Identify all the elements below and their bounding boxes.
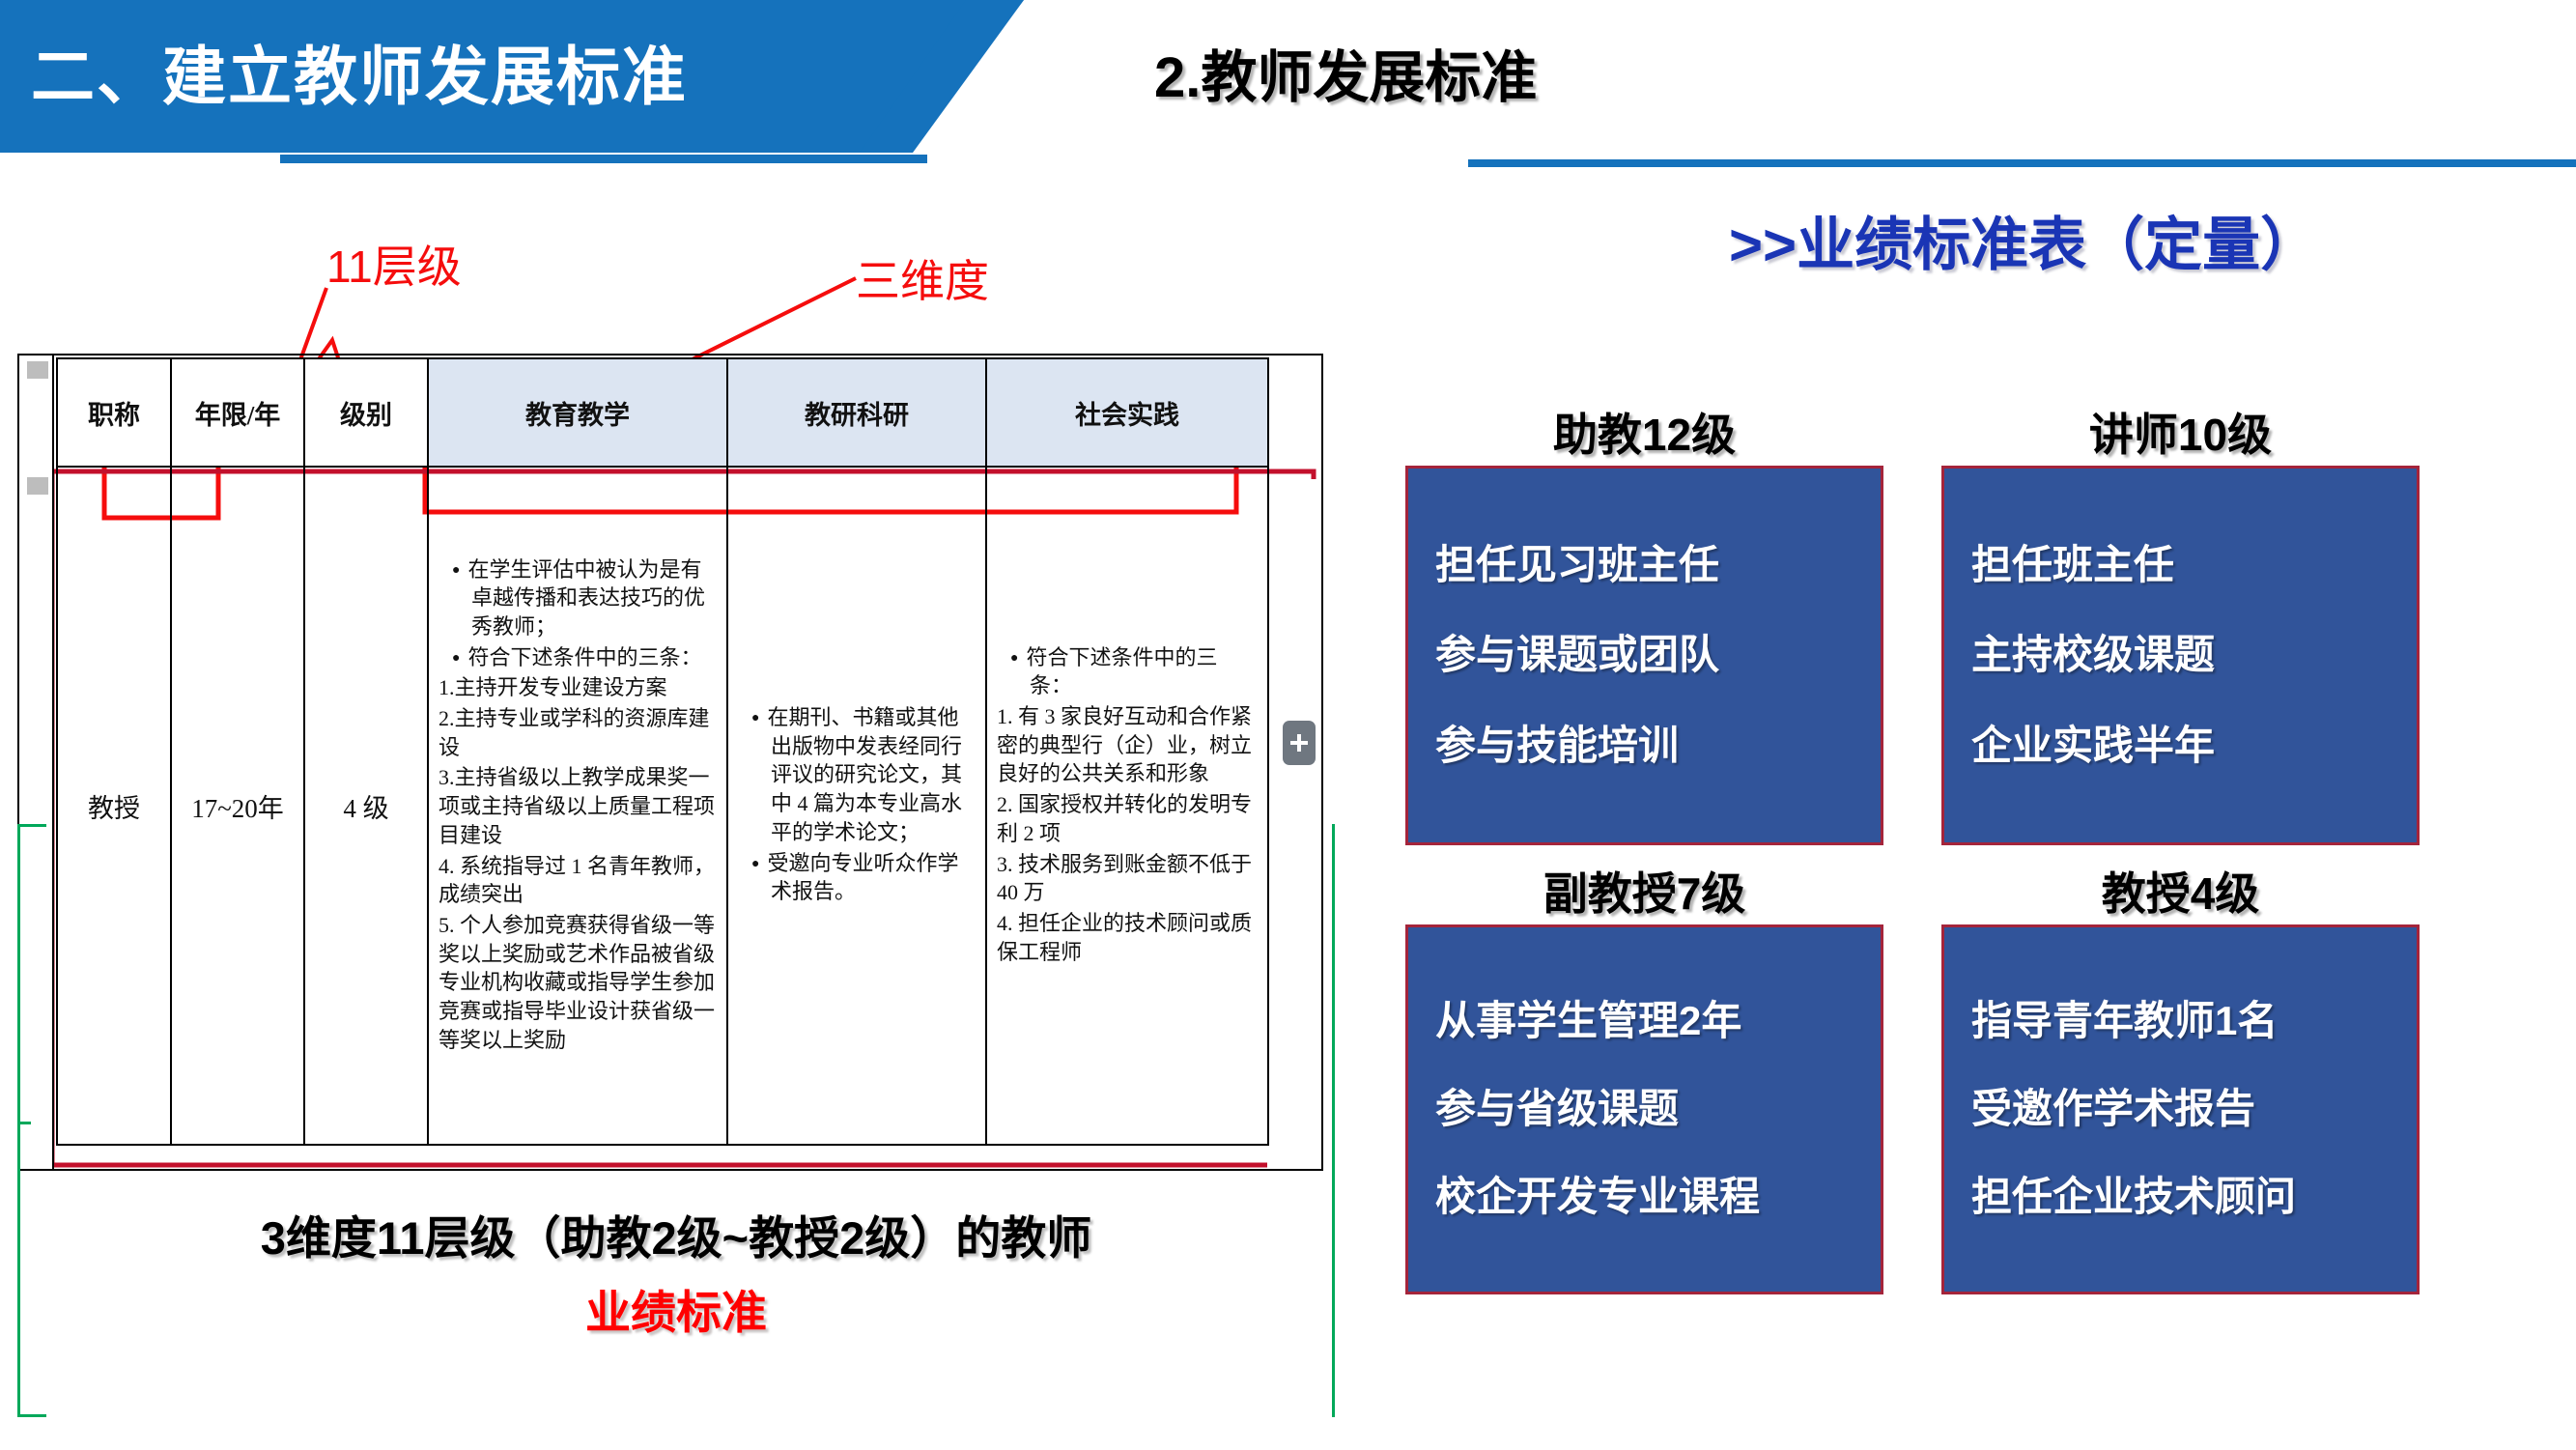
- card-line: 校企开发专业课程: [1435, 1175, 1859, 1219]
- card-title: 副教授7级: [1543, 869, 1746, 919]
- list-item: 在学生评估中被认为是有卓越传播和表达技巧的优秀教师；: [439, 555, 717, 641]
- slide-header: 二、建立教师发展标准 2.教师发展标准: [0, 0, 2576, 166]
- card-line: 主持校级课题: [1971, 633, 2395, 677]
- list-item: 4. 系统指导过 1 名青年教师，成绩突出: [439, 852, 717, 909]
- list-item: 4. 担任企业的技术顾问或质保工程师: [997, 909, 1258, 966]
- card-line: 担任班主任: [1971, 543, 2395, 587]
- card-title: 讲师10级: [2089, 411, 2272, 460]
- performance-standard-table: 职称 年限/年 级别 教育教学 教研科研 社会实践 教授 17~20年 4 级 …: [56, 357, 1269, 1146]
- header-underline-left: [280, 155, 927, 163]
- level-card-lecturer-10: 讲师10级 担任班主任 主持校级课题 企业实践半年: [1941, 411, 2420, 845]
- card-line: 参与技能培训: [1435, 724, 1859, 768]
- performance-standard-table-region[interactable]: 职称 年限/年 级别 教育教学 教研科研 社会实践 教授 17~20年 4 级 …: [17, 354, 1323, 1171]
- list-item: 5. 个人参加竞赛获得省级一等奖以上奖励或艺术作品被省级专业机构收藏或指导学生参…: [439, 911, 717, 1054]
- card-line: 从事学生管理2年: [1435, 999, 1859, 1043]
- cell-teaching: 在学生评估中被认为是有卓越传播和表达技巧的优秀教师； 符合下述条件中的三条： 1…: [428, 467, 727, 1145]
- card-line: 参与省级课题: [1435, 1087, 1859, 1131]
- scroll-thumb-handle[interactable]: [27, 477, 48, 495]
- list-item: 1. 有 3 家良好互动和合作紧密的典型行（企）业，树立良好的公共关系和形象: [997, 702, 1258, 788]
- list-item: 受邀向专业听众作学术报告。: [738, 849, 976, 906]
- cell-practice: 符合下述条件中的三条： 1. 有 3 家良好互动和合作紧密的典型行（企）业，树立…: [986, 467, 1268, 1145]
- card-line: 指导青年教师1名: [1971, 999, 2395, 1043]
- list-item: 2.主持专业或学科的资源库建设: [439, 704, 717, 761]
- column-header-title: 职称: [57, 358, 171, 467]
- card-line: 担任见习班主任: [1435, 543, 1859, 587]
- card-body: 指导青年教师1名 受邀作学术报告 担任企业技术顾问: [1941, 924, 2420, 1294]
- list-item: 符合下述条件中的三条：: [439, 643, 717, 672]
- table-right-gutter: [1267, 479, 1321, 1169]
- list-item: 2. 国家授权并转化的发明专利 2 项: [997, 790, 1258, 847]
- cell-research: 在期刊、书籍或其他出版物中发表经同行评议的研究论文，其中 4 篇为本专业高水平的…: [727, 467, 986, 1145]
- column-header-teaching: 教育教学: [428, 358, 727, 467]
- cell-years: 17~20年: [171, 467, 304, 1145]
- section-subtitle: 2.教师发展标准: [1154, 29, 1537, 116]
- add-row-plus-icon[interactable]: [1283, 721, 1316, 765]
- annotation-three-dimensions: 三维度: [856, 246, 989, 310]
- scroll-up-arrow-icon[interactable]: [27, 361, 48, 379]
- card-line: 受邀作学术报告: [1971, 1087, 2395, 1131]
- card-title: 教授4级: [2102, 869, 2260, 919]
- list-item: 3.主持省级以上教学成果奖一项或主持省级以上质量工程项目建设: [439, 763, 717, 849]
- level-card-associate-professor-7: 副教授7级 从事学生管理2年 参与省级课题 校企开发专业课程: [1405, 869, 1883, 1294]
- card-line: 参与课题或团队: [1435, 633, 1859, 677]
- table-header-row: 职称 年限/年 级别 教育教学 教研科研 社会实践: [57, 358, 1268, 467]
- list-item: 符合下述条件中的三条：: [997, 643, 1258, 700]
- cell-title: 教授: [57, 467, 171, 1145]
- table-row: 教授 17~20年 4 级 在学生评估中被认为是有卓越传播和表达技巧的优秀教师；…: [57, 467, 1268, 1145]
- card-body: 担任见习班主任 参与课题或团队 参与技能培训: [1405, 466, 1883, 845]
- card-body: 从事学生管理2年 参与省级课题 校企开发专业课程: [1405, 924, 1883, 1294]
- level-card-assistant-12: 助教12级 担任见习班主任 参与课题或团队 参与技能培训: [1405, 411, 1883, 845]
- header-underline-right: [1468, 159, 2576, 167]
- cell-level: 4 级: [304, 467, 428, 1145]
- column-header-practice: 社会实践: [986, 358, 1268, 467]
- page-title: 二、建立教师发展标准: [31, 23, 842, 120]
- table-caption-main: 3维度11层级（助教2级~教授2级）的教师: [0, 1201, 1352, 1267]
- table-caption-sub: 业绩标准: [0, 1275, 1352, 1342]
- level-cards-grid: 助教12级 担任见习班主任 参与课题或团队 参与技能培训 讲师10级 担任班主任…: [1405, 411, 2420, 1294]
- card-title: 助教12级: [1553, 411, 1736, 460]
- card-line: 担任企业技术顾问: [1971, 1175, 2395, 1219]
- card-body: 担任班主任 主持校级课题 企业实践半年: [1941, 466, 2420, 845]
- list-item: 3. 技术服务到账金额不低于 40 万: [997, 850, 1258, 907]
- list-item: 在期刊、书籍或其他出版物中发表经同行评议的研究论文，其中 4 篇为本专业高水平的…: [738, 703, 976, 846]
- column-header-research: 教研科研: [727, 358, 986, 467]
- level-card-professor-4: 教授4级 指导青年教师1名 受邀作学术报告 担任企业技术顾问: [1941, 869, 2420, 1294]
- list-item: 1.主持开发专业建设方案: [439, 673, 717, 702]
- card-line: 企业实践半年: [1971, 724, 2395, 768]
- annotation-11-levels: 11层级: [326, 232, 462, 296]
- right-panel-title: >>业绩标准表（定量）: [1729, 198, 2318, 282]
- column-header-level: 级别: [304, 358, 428, 467]
- column-header-years: 年限/年: [171, 358, 304, 467]
